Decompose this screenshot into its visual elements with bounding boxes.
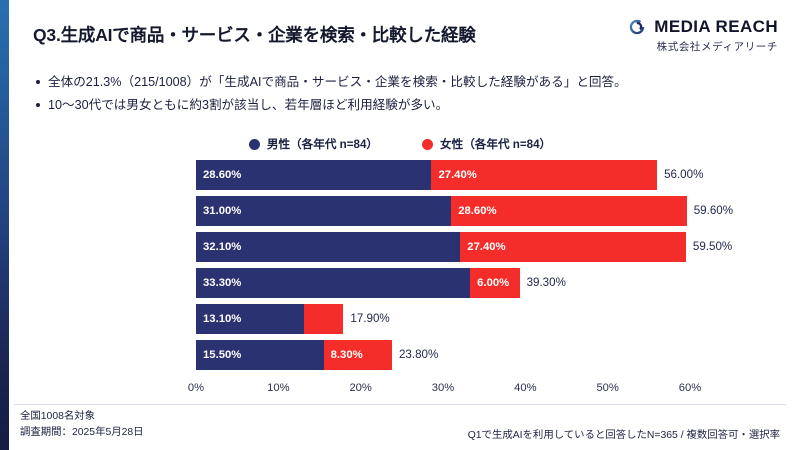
chart-legend: 男性（各年代 n=84） 女性（各年代 n=84） [0,136,800,152]
stacked-bar-chart: 10代28.60%27.40%56.00%20代31.00%28.60%59.6… [0,160,800,392]
bar-segment-male[interactable]: 13.10% [196,304,304,334]
x-axis-tick: 40% [514,382,536,394]
legend-item-male[interactable]: 男性（各年代 n=84） [249,136,378,152]
chart-plot-area: 10代28.60%27.40%56.00%20代31.00%28.60%59.6… [196,160,690,378]
bar-segment-male[interactable]: 31.00% [196,196,451,226]
bar-value-male: 31.00% [197,205,241,217]
bullet-dot-icon [36,80,40,84]
x-axis-tick: 10% [267,382,289,394]
bar-segment-female[interactable]: 28.60% [451,196,686,226]
legend-label-male: 男性（各年代 n=84） [267,136,378,152]
bar-segment-female[interactable]: 8.30% [324,340,392,370]
brand-logo: MEDIA REACH 株式会社メディアリーチ [627,17,778,54]
footer-survey-info: 全国1008名対象 調査期間：2025年5月28日 [20,409,144,441]
chart-row: 30代32.10%27.40%59.50% [196,232,690,262]
chart-row: 10代28.60%27.40%56.00% [196,160,690,190]
logo-subtitle: 株式会社メディアリーチ [627,39,778,54]
x-axis-tick: 50% [596,382,618,394]
bar-total-label: 59.60% [687,196,733,226]
bullet-dot-icon [36,103,40,107]
chart-row: 40代33.30%6.00%39.30% [196,268,690,298]
bar-total-label: 56.00% [657,160,703,190]
bar-total-label: 23.80% [392,340,438,370]
bar-value-male: 28.60% [197,169,241,181]
bar-value-male: 13.10% [197,313,241,325]
bullet-text: 全体の21.3%（215/1008）が「生成AIで商品・サービス・企業を検索・比… [48,72,627,93]
bar-total-label: 59.50% [686,232,732,262]
legend-item-female[interactable]: 女性（各年代 n=84） [422,136,551,152]
bar-value-female: 27.40% [461,241,505,253]
chart-row: 50代13.10%17.90% [196,304,690,334]
bar-segment-female[interactable]: 6.00% [470,268,519,298]
media-reach-swirl-icon [627,17,647,37]
bar-value-male: 32.10% [197,241,241,253]
bar-total-label: 39.30% [520,268,566,298]
bar-segment-male[interactable]: 15.50% [196,340,324,370]
bar-segment-male[interactable]: 33.30% [196,268,470,298]
bar-value-female: 8.30% [325,349,363,361]
footer-line-1: 全国1008名対象 [20,409,144,425]
legend-dot-female-icon [422,139,433,150]
summary-bullets: 全体の21.3%（215/1008）が「生成AIで商品・サービス・企業を検索・比… [36,72,776,118]
chart-row: 60代以上15.50%8.30%23.80% [196,340,690,370]
footer-line-2: 調査期間：2025年5月28日 [20,425,144,441]
bar-value-female: 27.40% [432,169,476,181]
page-title: Q3.生成AIで商品・サービス・企業を検索・比較した経験 [33,22,476,47]
logo-wordmark: MEDIA REACH [654,17,778,37]
bullet-item: 全体の21.3%（215/1008）が「生成AIで商品・サービス・企業を検索・比… [36,72,776,93]
bar-total-label: 17.90% [343,304,389,334]
chart-row: 20代31.00%28.60%59.60% [196,196,690,226]
bar-value-male: 33.30% [197,277,241,289]
bar-segment-male[interactable]: 28.60% [196,160,431,190]
bar-segment-female[interactable]: 27.40% [460,232,686,262]
x-axis-tick: 60% [679,382,701,394]
x-axis-tick: 0% [188,382,204,394]
bar-value-male: 15.50% [197,349,241,361]
page-footer: 全国1008名対象 調査期間：2025年5月28日 Q1で生成AIを利用している… [0,406,800,450]
footer-divider [14,404,786,405]
bar-value-female: 6.00% [471,277,509,289]
x-axis-tick: 30% [432,382,454,394]
bullet-text: 10〜30代では男女ともに約3割が該当し、若年層ほど利用経験が多い。 [48,95,448,116]
page-header: Q3.生成AIで商品・サービス・企業を検索・比較した経験 MEDIA REACH… [0,0,800,62]
x-axis-tick: 20% [349,382,371,394]
bar-segment-female[interactable] [304,304,344,334]
bullet-item: 10〜30代では男女ともに約3割が該当し、若年層ほど利用経験が多い。 [36,95,776,116]
bar-segment-male[interactable]: 32.10% [196,232,460,262]
legend-dot-male-icon [249,139,260,150]
x-axis: 0%10%20%30%40%50%60% [196,382,690,402]
bar-segment-female[interactable]: 27.40% [431,160,657,190]
footer-note: Q1で生成AIを利用していると回答したN=365 / 複数回答可・選択率 [468,426,780,441]
legend-label-female: 女性（各年代 n=84） [440,136,551,152]
bar-value-female: 28.60% [452,205,496,217]
